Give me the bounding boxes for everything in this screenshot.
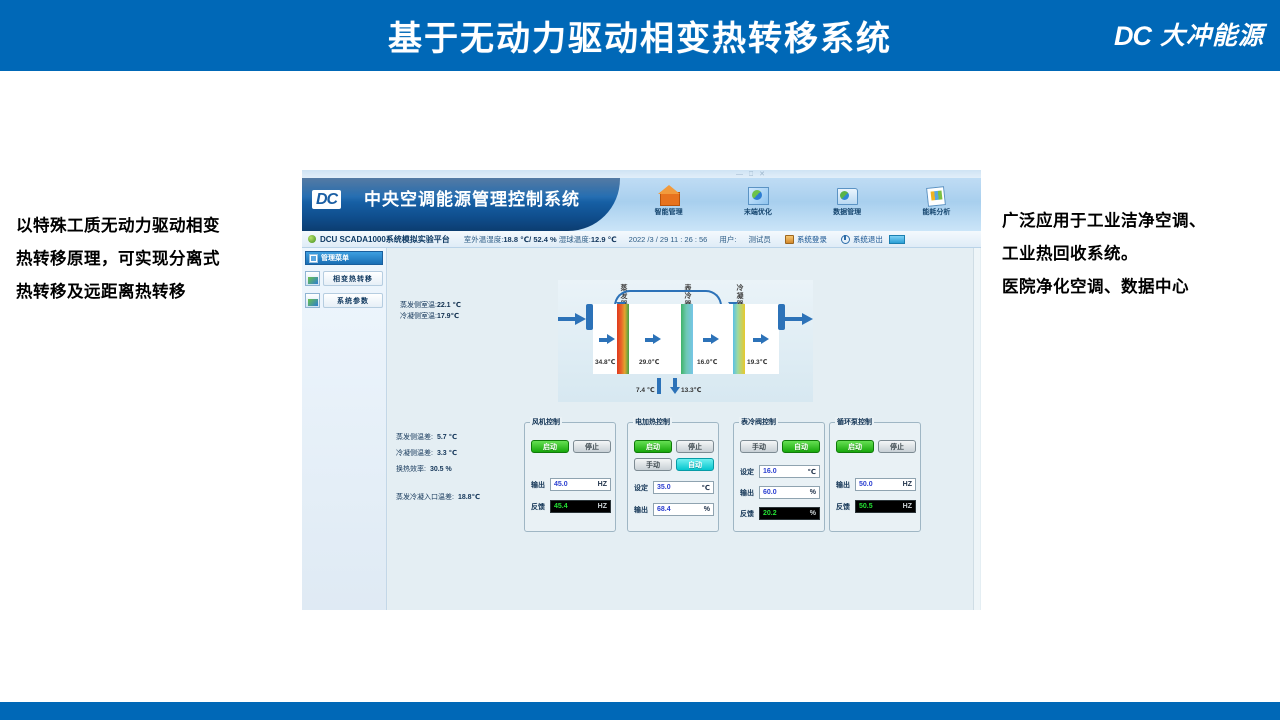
field-label: 设定 xyxy=(634,483,650,493)
label: 蒸发侧室温: xyxy=(400,302,437,309)
sidebar-item-label: 系统参数 xyxy=(323,293,383,308)
nav-item-terminal-optimization[interactable]: 末端优化 xyxy=(713,182,802,231)
unit: ℃ xyxy=(702,484,710,492)
user-value: 测试员 xyxy=(748,234,771,245)
scada-content: 蒸发侧室温:22.1 ℃ 冷凝侧室温:17.9℃ 蒸发器 表冷器 冷凝器 xyxy=(388,248,981,610)
chilled-water-supply-pipe xyxy=(657,378,661,394)
scada-logo: DC xyxy=(312,190,341,209)
scada-header: DC 中央空调能源管理控制系统 智能管理 末端优化 数据管理 能耗分析 xyxy=(302,178,981,231)
group-title: 风机控制 xyxy=(530,417,562,427)
unit: HZ xyxy=(903,481,912,488)
nav-item-data-management[interactable]: 数据管理 xyxy=(803,182,892,231)
outdoor-humidity: 52.4 % xyxy=(533,235,556,244)
value: 30.5 % xyxy=(430,466,452,473)
label: 冷凝侧温差: xyxy=(396,450,433,457)
surface-cooler-coil xyxy=(681,304,693,374)
report-chart-icon xyxy=(925,185,947,205)
field-label: 反馈 xyxy=(740,509,756,519)
field-label: 反馈 xyxy=(836,502,852,512)
sidebar-header: 管理菜单 xyxy=(305,251,383,265)
water-flow-arrow xyxy=(670,387,680,394)
control-group-fan: 风机控制 启动 停止 输出 45.0 HZ 反馈 45.4 HZ xyxy=(524,422,616,532)
scada-sidebar: 管理菜单 相变热转移 系统参数 xyxy=(302,248,387,610)
field-label: 输出 xyxy=(531,480,547,490)
outdoor-readout: 室外温湿度:18.8 ℃/ 52.4 % 湿球温度:12.9 ℃ xyxy=(464,234,617,245)
field-label: 反馈 xyxy=(531,502,547,512)
field-label: 输出 xyxy=(634,505,650,515)
group-title: 循环泵控制 xyxy=(835,417,874,427)
module-icon xyxy=(305,271,320,286)
wetbulb-label: 湿球温度: xyxy=(559,235,591,244)
label: 换热效率: xyxy=(396,466,426,473)
room-temperature-readouts: 蒸发侧室温:22.1 ℃ 冷凝侧室温:17.9℃ xyxy=(400,300,461,322)
value: 35.0 xyxy=(657,484,671,491)
fan-feedback-field: 45.4 HZ xyxy=(550,500,611,513)
module-icon xyxy=(305,293,320,308)
unit: HZ xyxy=(598,481,607,488)
heater-output-field[interactable]: 68.4 % xyxy=(653,503,714,516)
valve-auto-button[interactable]: 自动 xyxy=(782,440,820,453)
logout-button[interactable]: 系统退出 xyxy=(841,234,883,245)
control-group-cooling-valve: 表冷阀控制 手动 自动 设定 16.0 ℃ 输出 60.0 % 反馈 xyxy=(733,422,825,532)
performance-stats: 蒸发侧温差:5.7 ℃ 冷凝侧温差:3.3 ℃ 换热效率:30.5 % 蒸发冷凝… xyxy=(396,430,480,506)
datetime-readout: 2022 /3 / 29 11 : 26 : 56 xyxy=(629,235,708,244)
value: 20.2 xyxy=(763,510,777,517)
value: 45.4 xyxy=(554,503,568,510)
login-button[interactable]: 系统登录 xyxy=(785,234,827,245)
group-title: 表冷阀控制 xyxy=(739,417,778,427)
group-title: 电加热控制 xyxy=(633,417,672,427)
unit: % xyxy=(810,489,816,496)
outdoor-temp: 18.8 ℃/ xyxy=(503,235,531,244)
caption-left-line-3: 热转移及远距离热转移 xyxy=(16,276,286,309)
control-group-circulation-pump: 循环泵控制 启动 停止 输出 50.0 HZ 反馈 50.5 HZ xyxy=(829,422,921,532)
inlet-damper xyxy=(586,304,593,330)
optimize-icon xyxy=(747,185,769,205)
control-group-electric-heater: 电加热控制 启动 停止 手动 自动 设定 35.0 ℃ 输出 68.4 xyxy=(627,422,719,532)
heater-stop-button[interactable]: 停止 xyxy=(676,440,714,453)
unit: % xyxy=(704,506,710,513)
pump-feedback-field: 50.5 HZ xyxy=(855,500,916,513)
sidebar-item-system-parameters[interactable]: 系统参数 xyxy=(305,292,383,309)
status-dot-icon xyxy=(308,235,316,243)
value: 16.0 xyxy=(763,468,777,475)
field-label: 输出 xyxy=(836,480,852,490)
water-temp-out: 13.3℃ xyxy=(681,386,702,394)
heater-manual-button[interactable]: 手动 xyxy=(634,458,672,471)
air-temp-4: 19.3℃ xyxy=(747,358,768,366)
label: 蒸发冷凝入口温差: xyxy=(396,494,454,501)
stat-inlet-delta-t: 蒸发冷凝入口温差:18.8℃ xyxy=(396,490,480,506)
caption-right-line-1: 广泛应用于工业洁净空调、 xyxy=(1002,205,1277,238)
nav-item-energy-analysis[interactable]: 能耗分析 xyxy=(892,182,981,231)
air-temp-3: 16.0℃ xyxy=(697,358,718,366)
air-temp-2: 29.0℃ xyxy=(639,358,660,366)
outdoor-label: 室外温湿度: xyxy=(464,235,504,244)
nav-label: 智能管理 xyxy=(655,207,683,217)
pump-stop-button[interactable]: 停止 xyxy=(878,440,916,453)
value: 60.0 xyxy=(763,489,777,496)
user-icon xyxy=(785,235,794,244)
water-temp-in: 7.4 ℃ xyxy=(636,386,655,394)
caption-left: 以特殊工质无动力驱动相变 热转移原理，可实现分离式 热转移及远距离热转移 xyxy=(16,210,286,309)
scrollbar-track[interactable] xyxy=(973,248,980,610)
unit: % xyxy=(810,510,816,517)
scada-nav: 智能管理 末端优化 数据管理 能耗分析 xyxy=(624,182,981,231)
valve-feedback-field: 20.2 % xyxy=(759,507,820,520)
scada-status-bar: DCU SCADA1000系统模拟实验平台 室外温湿度:18.8 ℃/ 52.4… xyxy=(302,231,981,248)
value: 45.0 xyxy=(554,481,568,488)
sidebar-item-phase-change-transfer[interactable]: 相变热转移 xyxy=(305,270,383,287)
caption-right: 广泛应用于工业洁净空调、 工业热回收系统。 医院净化空调、数据中心 xyxy=(1002,205,1277,304)
value: 68.4 xyxy=(657,506,671,513)
value: 3.3 ℃ xyxy=(437,450,457,457)
stat-heat-exchange-efficiency: 换热效率:30.5 % xyxy=(396,462,480,478)
database-folder-icon xyxy=(836,185,858,205)
label: 蒸发侧温差: xyxy=(396,434,433,441)
evaporator-side-room-temp: 蒸发侧室温:22.1 ℃ xyxy=(400,300,461,311)
system-schematic: 蒸发器 表冷器 冷凝器 xyxy=(558,280,813,402)
pump-start-button[interactable]: 启动 xyxy=(836,440,874,453)
field-label: 输出 xyxy=(740,488,756,498)
menu-icon xyxy=(309,254,318,263)
air-temp-1: 34.8℃ xyxy=(595,358,616,366)
evaporator-coil xyxy=(617,304,629,374)
sidebar-item-label: 相变热转移 xyxy=(323,271,383,286)
outlet-damper xyxy=(778,304,785,330)
air-handling-duct: 34.8℃ 29.0℃ 16.0℃ 19.3℃ xyxy=(593,304,779,374)
heater-start-button[interactable]: 启动 xyxy=(634,440,672,453)
value: 22.1 ℃ xyxy=(437,302,461,309)
value: 50.0 xyxy=(859,481,873,488)
power-icon xyxy=(841,235,850,244)
brand-mark: DC xyxy=(1114,23,1151,50)
nav-label: 数据管理 xyxy=(833,207,861,217)
caption-right-line-2: 工业热回收系统。 xyxy=(1002,238,1277,271)
stat-condenser-delta-t: 冷凝侧温差:3.3 ℃ xyxy=(396,446,480,462)
nav-label: 能耗分析 xyxy=(922,207,950,217)
nav-label: 末端优化 xyxy=(744,207,772,217)
company-logo: DC 大冲能源 xyxy=(1114,16,1264,56)
value: 17.9℃ xyxy=(437,313,459,320)
user-label: 用户: xyxy=(719,234,736,245)
wetbulb-value: 12.9 ℃ xyxy=(591,235,617,244)
label: 冷凝侧室温: xyxy=(400,313,437,320)
scada-screenshot: — ⎕ ✕ DC 中央空调能源管理控制系统 智能管理 末端优化 数据管理 能耗分… xyxy=(302,170,981,610)
caption-left-line-1: 以特殊工质无动力驱动相变 xyxy=(16,210,286,243)
caption-left-line-2: 热转移原理，可实现分离式 xyxy=(16,243,286,276)
valve-manual-button[interactable]: 手动 xyxy=(740,440,778,453)
fan-output-field[interactable]: 45.0 HZ xyxy=(550,478,611,491)
condenser-side-room-temp: 冷凝侧室温:17.9℃ xyxy=(400,311,461,322)
home-icon xyxy=(658,185,680,205)
value: 50.5 xyxy=(859,503,873,510)
value: 18.8℃ xyxy=(458,494,480,501)
pump-output-field[interactable]: 50.0 HZ xyxy=(855,478,916,491)
fan-start-button[interactable]: 启动 xyxy=(531,440,569,453)
unit: HZ xyxy=(598,503,607,510)
status-chip-icon xyxy=(889,235,905,244)
unit: ℃ xyxy=(808,468,816,476)
platform-name: DCU SCADA1000系统模拟实验平台 xyxy=(320,234,450,245)
heater-auto-button[interactable]: 自动 xyxy=(676,458,714,471)
nav-item-intelligent-management[interactable]: 智能管理 xyxy=(624,182,713,231)
unit: HZ xyxy=(903,503,912,510)
caption-right-line-3: 医院净化空调、数据中心 xyxy=(1002,271,1277,304)
valve-setpoint-field[interactable]: 16.0 ℃ xyxy=(759,465,820,478)
sidebar-header-label: 管理菜单 xyxy=(321,253,349,263)
logout-label: 系统退出 xyxy=(853,234,883,245)
fan-stop-button[interactable]: 停止 xyxy=(573,440,611,453)
field-label: 设定 xyxy=(740,467,756,477)
scada-header-title: 中央空调能源管理控制系统 xyxy=(364,189,580,210)
slide-footer-bar xyxy=(0,702,1280,720)
condenser-coil xyxy=(733,304,745,374)
heater-setpoint-field[interactable]: 35.0 ℃ xyxy=(653,481,714,494)
login-label: 系统登录 xyxy=(797,234,827,245)
valve-output-field[interactable]: 60.0 % xyxy=(759,486,820,499)
page-title: 基于无动力驱动相变热转移系统 xyxy=(0,0,1280,71)
stat-evaporator-delta-t: 蒸发侧温差:5.7 ℃ xyxy=(396,430,480,446)
value: 5.7 ℃ xyxy=(437,434,457,441)
brand-name: 大冲能源 xyxy=(1160,24,1264,49)
